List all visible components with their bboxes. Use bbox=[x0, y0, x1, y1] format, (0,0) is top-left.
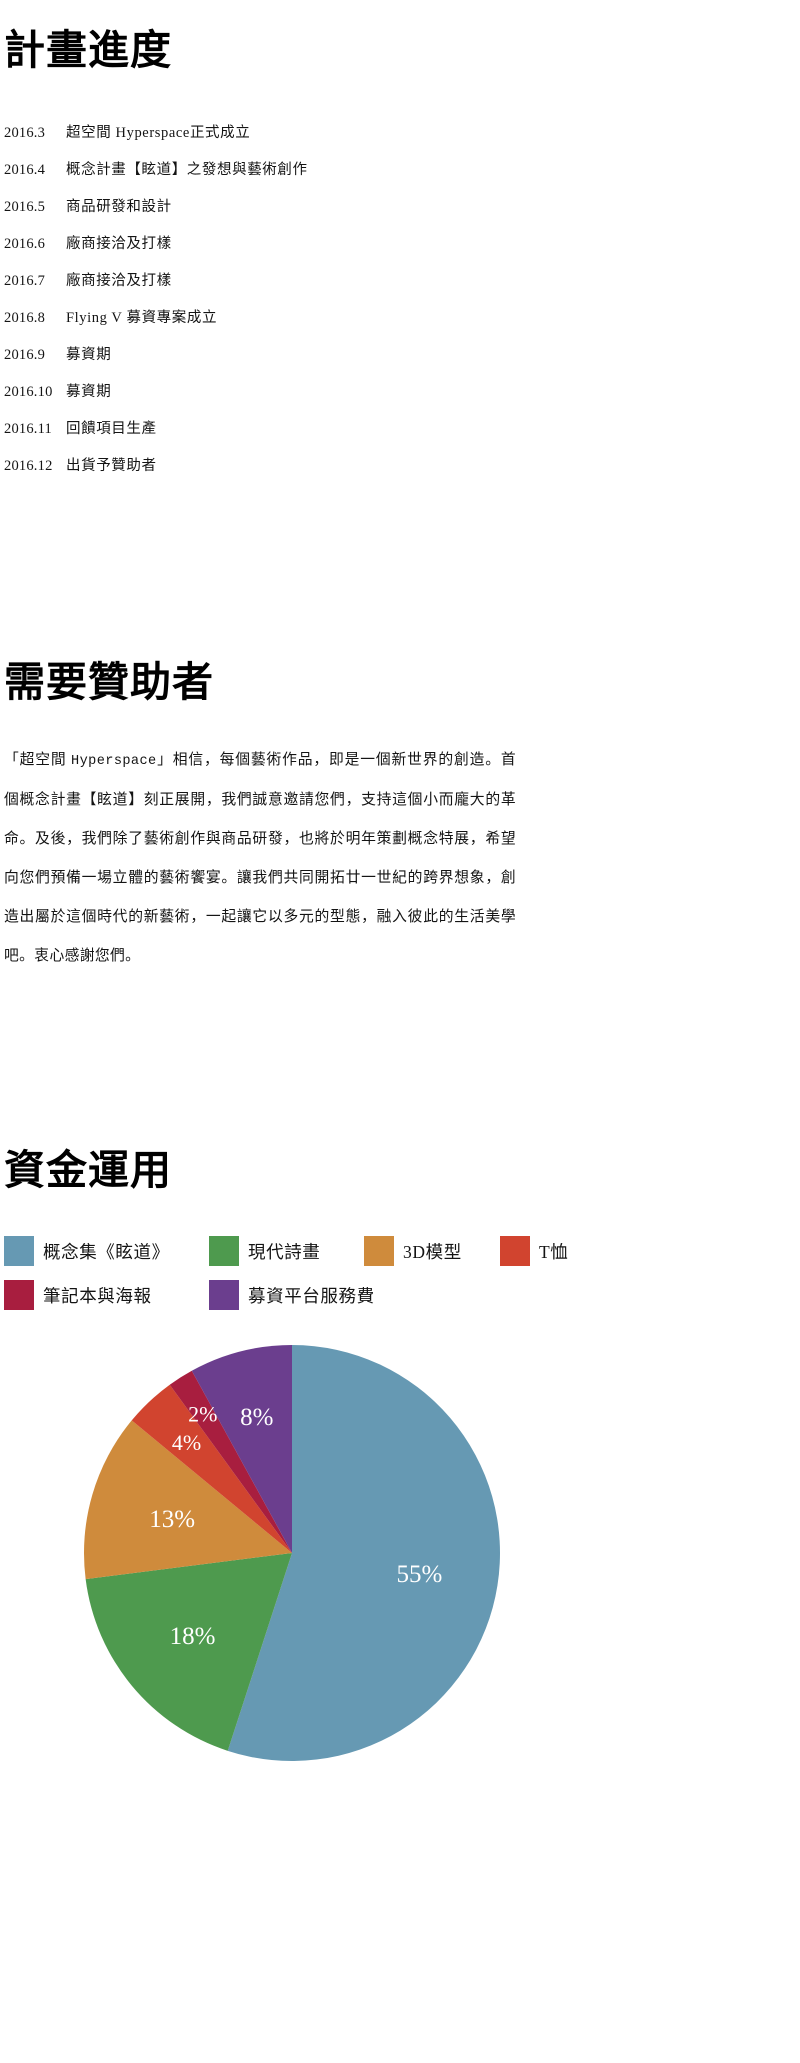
timeline-date: 2016.5 bbox=[4, 189, 66, 226]
sponsor-paragraph-part1: 「超空間 bbox=[4, 752, 71, 768]
sponsor-paragraph-part2: 」相信，每個藝術作品，即是一個新世界的創造。首個概念計畫【眩道】刻正展開，我們誠… bbox=[4, 752, 516, 964]
timeline-date: 2016.7 bbox=[4, 263, 66, 300]
timeline-label: 商品研發和設計 bbox=[66, 189, 800, 226]
timeline-date: 2016.8 bbox=[4, 300, 66, 337]
timeline-row: 2016.3 超空間 Hyperspace正式成立 bbox=[4, 115, 800, 152]
sponsor-paragraph: 「超空間 Hyperspace」相信，每個藝術作品，即是一個新世界的創造。首個概… bbox=[0, 741, 516, 976]
legend-item-platform-fee[interactable]: 募資平台服務費 bbox=[209, 1273, 375, 1317]
timeline-row: 2016.12 出貨予贊助者 bbox=[4, 448, 800, 485]
legend-label: 募資平台服務費 bbox=[248, 1283, 375, 1308]
pie-slice-label: 8% bbox=[240, 1404, 273, 1431]
pie-legend: 概念集《眩道》 現代詩畫 3D模型 T恤 筆記本與海報 bbox=[0, 1229, 604, 1317]
timeline-row: 2016.8 Flying V 募資專案成立 bbox=[4, 300, 800, 337]
timeline-label: 廠商接洽及打樣 bbox=[66, 263, 800, 300]
timeline-label: 募資期 bbox=[66, 374, 800, 411]
legend-row: 筆記本與海報 募資平台服務費 bbox=[4, 1273, 604, 1317]
funding-heading: 資金運用 bbox=[0, 1148, 800, 1193]
timeline-row: 2016.10 募資期 bbox=[4, 374, 800, 411]
timeline-label: 出貨予贊助者 bbox=[66, 448, 800, 485]
pie-slice-group bbox=[84, 1345, 500, 1761]
legend-label: T恤 bbox=[539, 1239, 568, 1264]
pie-slice-label: 2% bbox=[188, 1402, 217, 1427]
timeline-date: 2016.9 bbox=[4, 337, 66, 374]
pie-slice-label: 4% bbox=[172, 1430, 201, 1455]
legend-item-tshirt[interactable]: T恤 bbox=[500, 1229, 568, 1273]
timeline-label: 回饋項目生產 bbox=[66, 411, 800, 448]
legend-item-concept-book[interactable]: 概念集《眩道》 bbox=[4, 1229, 209, 1273]
legend-label: 筆記本與海報 bbox=[43, 1283, 152, 1308]
legend-swatch-icon bbox=[364, 1236, 394, 1266]
pie-chart: 55%18%13%4%2%8% bbox=[0, 1323, 800, 1823]
legend-label: 概念集《眩道》 bbox=[43, 1239, 170, 1264]
timeline-label: 超空間 Hyperspace正式成立 bbox=[66, 115, 800, 152]
pie-slice-label: 18% bbox=[170, 1623, 216, 1650]
pie-slice-label: 55% bbox=[396, 1561, 442, 1588]
legend-swatch-icon bbox=[209, 1236, 239, 1266]
timeline-date: 2016.4 bbox=[4, 152, 66, 189]
funding-campaign-page: 計畫進度 2016.3 超空間 Hyperspace正式成立 2016.4 概念… bbox=[0, 0, 800, 2063]
timeline-row: 2016.4 概念計畫【眩道】之發想與藝術創作 bbox=[4, 152, 800, 189]
timeline-list: 2016.3 超空間 Hyperspace正式成立 2016.4 概念計畫【眩道… bbox=[0, 115, 800, 485]
timeline-date: 2016.10 bbox=[4, 374, 66, 411]
legend-item-modern-poetry[interactable]: 現代詩畫 bbox=[209, 1229, 364, 1273]
legend-row: 概念集《眩道》 現代詩畫 3D模型 T恤 bbox=[4, 1229, 604, 1273]
sponsor-heading: 需要贊助者 bbox=[0, 660, 800, 705]
legend-swatch-icon bbox=[209, 1280, 239, 1310]
project-timeline-section: 計畫進度 2016.3 超空間 Hyperspace正式成立 2016.4 概念… bbox=[0, 28, 800, 485]
legend-label: 現代詩畫 bbox=[248, 1239, 320, 1264]
timeline-date: 2016.11 bbox=[4, 411, 66, 448]
timeline-label: Flying V 募資專案成立 bbox=[66, 300, 800, 337]
pie-chart-svg: 55%18%13%4%2%8% bbox=[72, 1323, 512, 1783]
timeline-row: 2016.7 廠商接洽及打樣 bbox=[4, 263, 800, 300]
legend-swatch-icon bbox=[500, 1236, 530, 1266]
timeline-row: 2016.6 廠商接洽及打樣 bbox=[4, 226, 800, 263]
timeline-label: 概念計畫【眩道】之發想與藝術創作 bbox=[66, 152, 800, 189]
timeline-row: 2016.11 回饋項目生產 bbox=[4, 411, 800, 448]
legend-label: 3D模型 bbox=[403, 1239, 462, 1264]
timeline-row: 2016.5 商品研發和設計 bbox=[4, 189, 800, 226]
legend-swatch-icon bbox=[4, 1280, 34, 1310]
legend-swatch-icon bbox=[4, 1236, 34, 1266]
timeline-label: 募資期 bbox=[66, 337, 800, 374]
timeline-heading: 計畫進度 bbox=[0, 28, 800, 73]
need-sponsors-section: 需要贊助者 「超空間 Hyperspace」相信，每個藝術作品，即是一個新世界的… bbox=[0, 660, 800, 976]
timeline-date: 2016.12 bbox=[4, 448, 66, 485]
legend-item-3d-model[interactable]: 3D模型 bbox=[364, 1229, 500, 1273]
legend-item-notebook-poster[interactable]: 筆記本與海報 bbox=[4, 1273, 209, 1317]
timeline-date: 2016.6 bbox=[4, 226, 66, 263]
brand-name-hyperspace: Hyperspace bbox=[71, 754, 157, 769]
pie-slice-label: 13% bbox=[149, 1506, 195, 1533]
funding-usage-section: 資金運用 概念集《眩道》 現代詩畫 3D模型 T恤 bbox=[0, 1148, 800, 1823]
timeline-row: 2016.9 募資期 bbox=[4, 337, 800, 374]
timeline-label: 廠商接洽及打樣 bbox=[66, 226, 800, 263]
timeline-date: 2016.3 bbox=[4, 115, 66, 152]
